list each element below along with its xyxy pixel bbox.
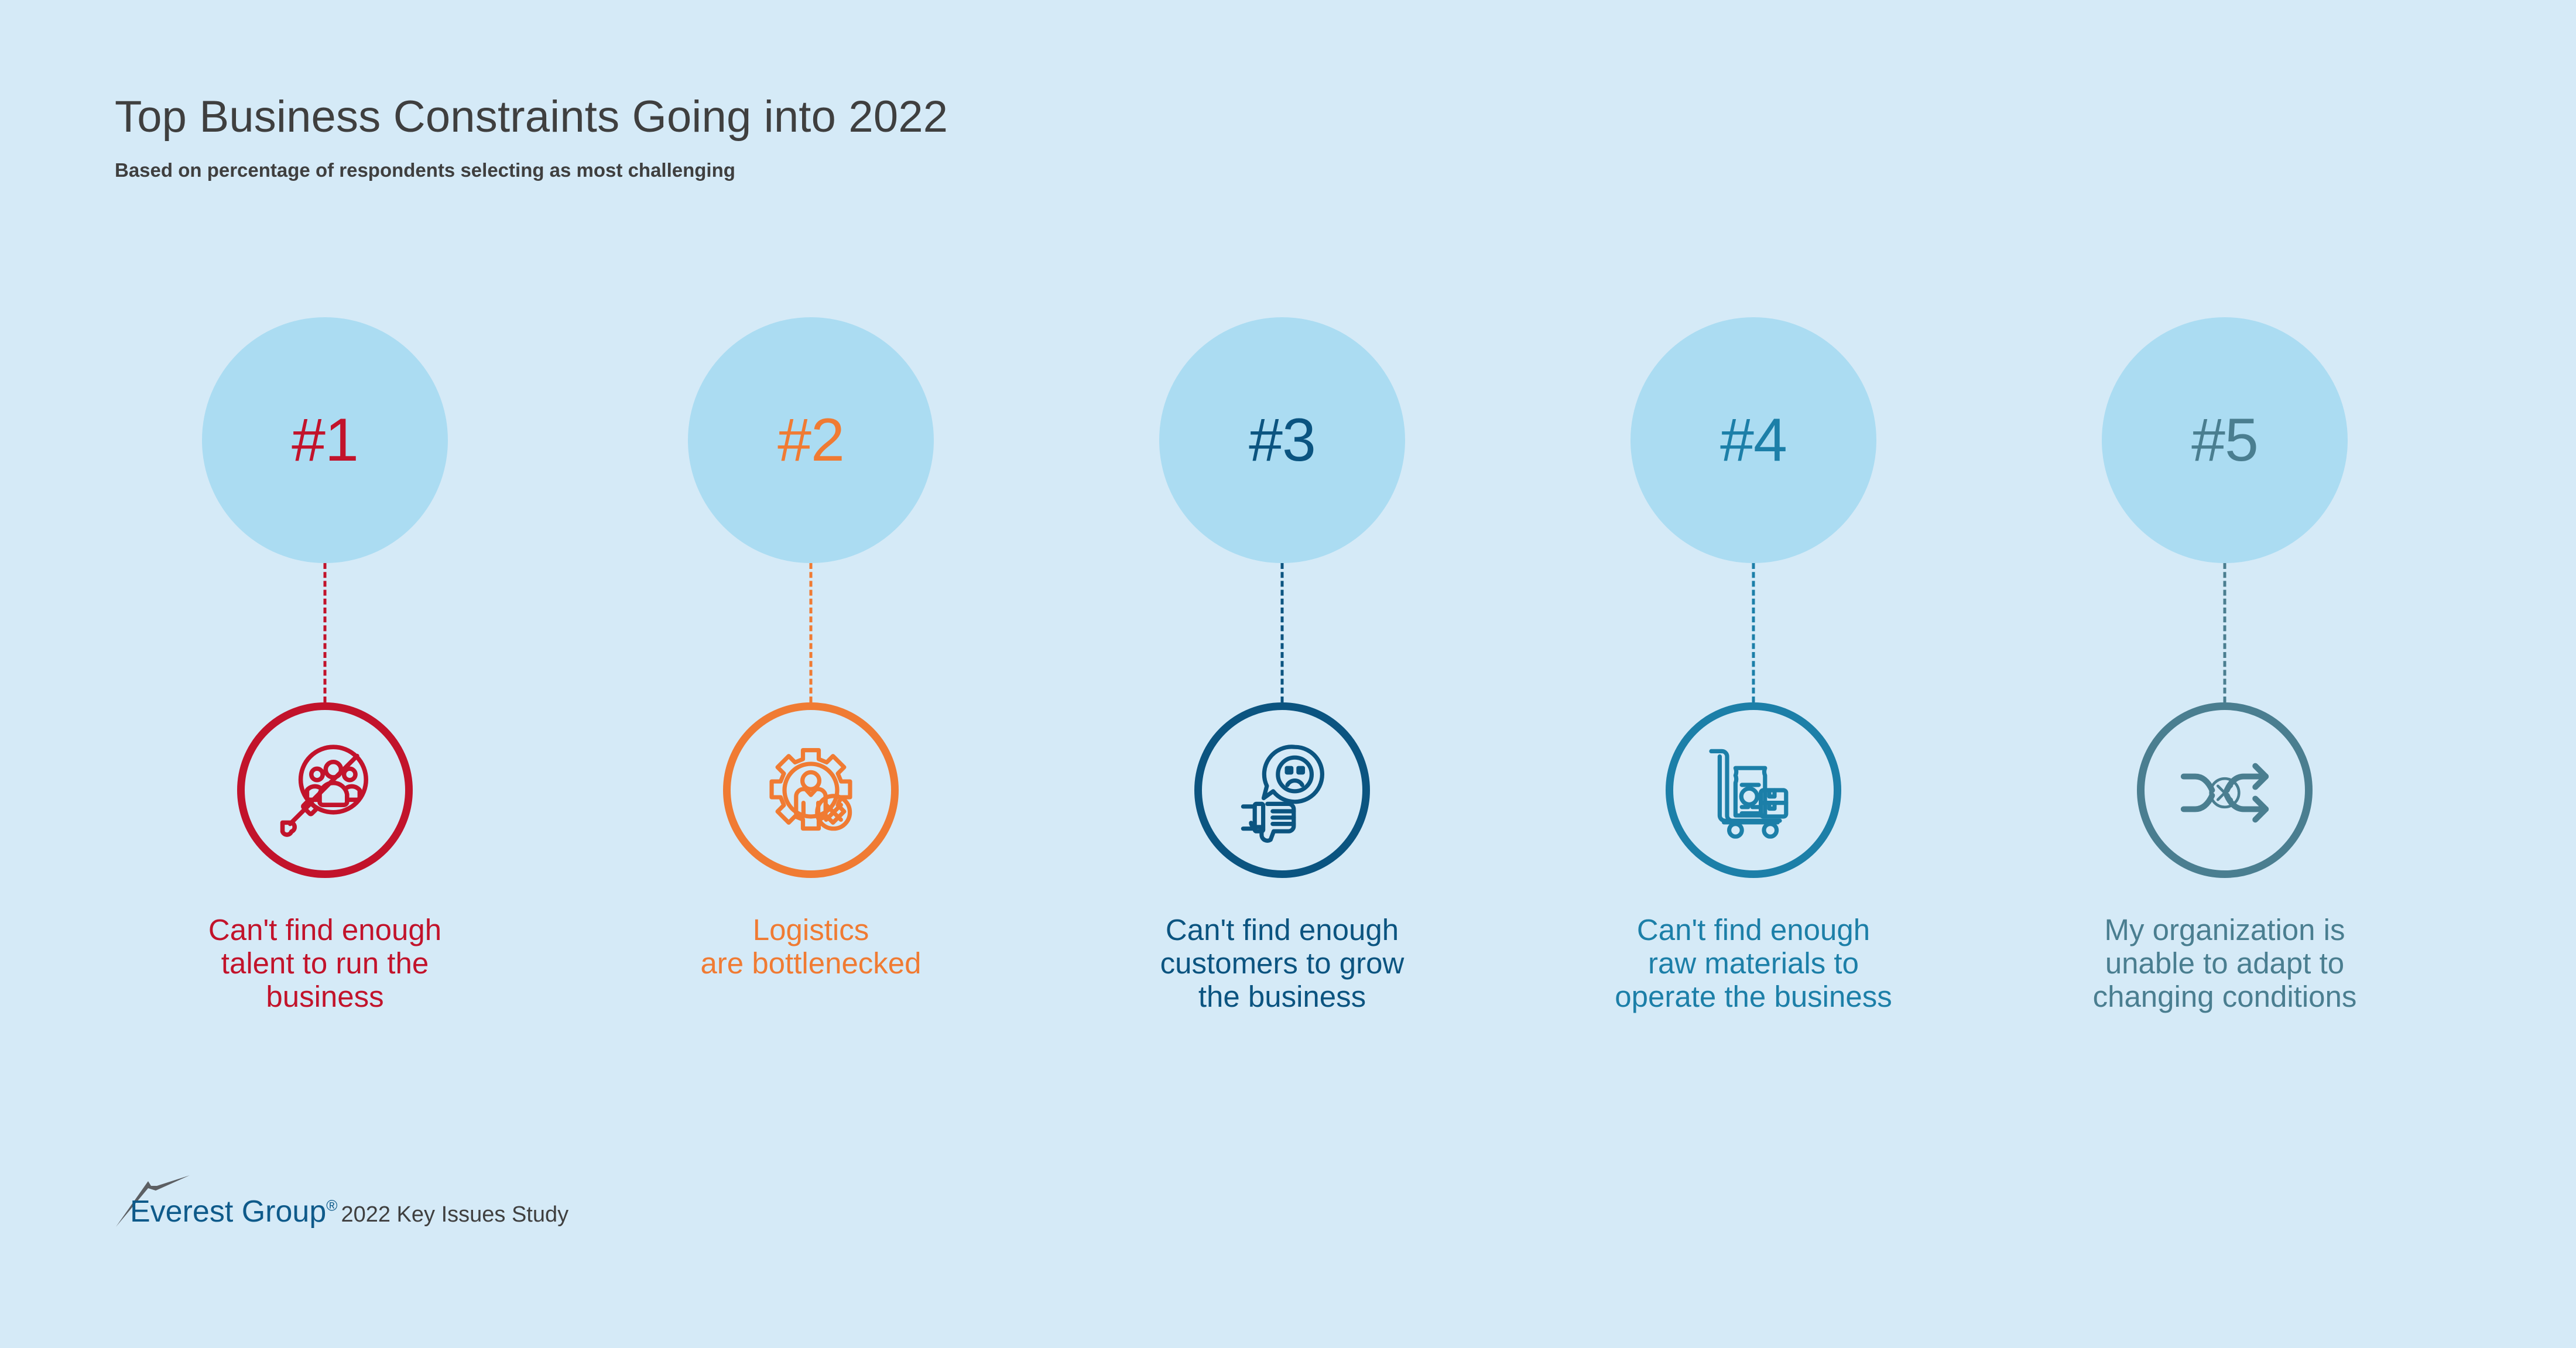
constraint-label-1-line-3: business xyxy=(120,980,530,1013)
constraint-label-5-line-3: changing conditions xyxy=(2020,980,2430,1013)
connector-line-1 xyxy=(324,563,327,702)
constraint-label-3-line-3: the business xyxy=(1077,980,1487,1013)
rank-columns: #1 xyxy=(0,304,2576,1100)
rank-badge-label-2: #2 xyxy=(777,410,844,471)
constraint-label-5-line-2: unable to adapt to xyxy=(2020,946,2430,980)
rank-badge-1[interactable]: #1 xyxy=(202,317,448,563)
connector-line-4 xyxy=(1752,563,1755,702)
rank-badge-label-3: #3 xyxy=(1249,410,1316,471)
constraint-label-2-line-1: Logistics xyxy=(606,913,1016,946)
icon-ring-3[interactable] xyxy=(1194,702,1370,878)
shuffle-arrows-blocked-icon xyxy=(2172,738,2277,843)
rank-badge-label-5: #5 xyxy=(2191,410,2258,471)
constraint-label-4-line-1: Can't find enough xyxy=(1549,913,1958,946)
registered-mark: ® xyxy=(326,1197,337,1215)
infographic-canvas: Top Business Constraints Going into 2022… xyxy=(0,0,2576,1348)
icon-ring-4[interactable] xyxy=(1666,702,1841,878)
constraint-label-3-line-1: Can't find enough xyxy=(1077,913,1487,946)
icon-ring-1[interactable] xyxy=(237,702,413,878)
icon-ring-2[interactable] xyxy=(723,702,899,878)
constraint-label-5-line-1: My organization is xyxy=(2020,913,2430,946)
footer-study: 2022 Key Issues Study xyxy=(341,1203,568,1226)
icon-ring-5[interactable] xyxy=(2137,702,2313,878)
constraint-label-1: Can't find enough talent to run the busi… xyxy=(120,913,530,1013)
page-title: Top Business Constraints Going into 2022 xyxy=(115,94,948,140)
rank-column-1[interactable]: #1 xyxy=(114,304,536,1100)
rank-column-4[interactable]: #4 xyxy=(1543,304,1964,1100)
connector-line-3 xyxy=(1281,563,1284,702)
footer: Everest Group® 2022 Key Issues Study xyxy=(115,1165,568,1229)
page-subtitle: Based on percentage of respondents selec… xyxy=(115,159,948,181)
rank-badge-3[interactable]: #3 xyxy=(1159,317,1405,563)
rank-badge-4[interactable]: #4 xyxy=(1630,317,1876,563)
connector-line-5 xyxy=(2224,563,2226,702)
constraint-label-1-line-2: talent to run the xyxy=(120,946,530,980)
constraint-label-2-line-2: are bottlenecked xyxy=(606,946,1016,980)
thumbs-down-sad-face-icon xyxy=(1229,738,1335,843)
rank-badge-2[interactable]: #2 xyxy=(688,317,934,563)
constraint-label-4: Can't find enough raw materials to opera… xyxy=(1549,913,1958,1013)
magnifier-people-blocked-icon xyxy=(272,738,378,843)
footer-brand: Everest Group® xyxy=(130,1196,337,1227)
footer-brand-text: Everest Group xyxy=(130,1195,326,1229)
constraint-label-3: Can't find enough customers to grow the … xyxy=(1077,913,1487,1013)
constraint-label-4-line-3: operate the business xyxy=(1549,980,1958,1013)
rank-badge-5[interactable]: #5 xyxy=(2102,317,2348,563)
constraint-label-5: My organization is unable to adapt to ch… xyxy=(2020,913,2430,1013)
rank-badge-label-4: #4 xyxy=(1720,410,1787,471)
rank-column-2[interactable]: #2 xyxy=(600,304,1022,1100)
constraint-label-1-line-1: Can't find enough xyxy=(120,913,530,946)
hand-truck-boxes-icon xyxy=(1701,738,1806,843)
rank-column-3[interactable]: #3 xyxy=(1071,304,1493,1100)
rank-badge-label-1: #1 xyxy=(292,410,358,471)
gear-person-x-icon xyxy=(758,738,864,843)
constraint-label-4-line-2: raw materials to xyxy=(1549,946,1958,980)
constraint-label-3-line-2: customers to grow xyxy=(1077,946,1487,980)
header: Top Business Constraints Going into 2022… xyxy=(115,94,948,181)
constraint-label-2: Logistics are bottlenecked xyxy=(606,913,1016,980)
rank-column-5[interactable]: #5 xyxy=(2014,304,2435,1100)
connector-line-2 xyxy=(810,563,813,702)
